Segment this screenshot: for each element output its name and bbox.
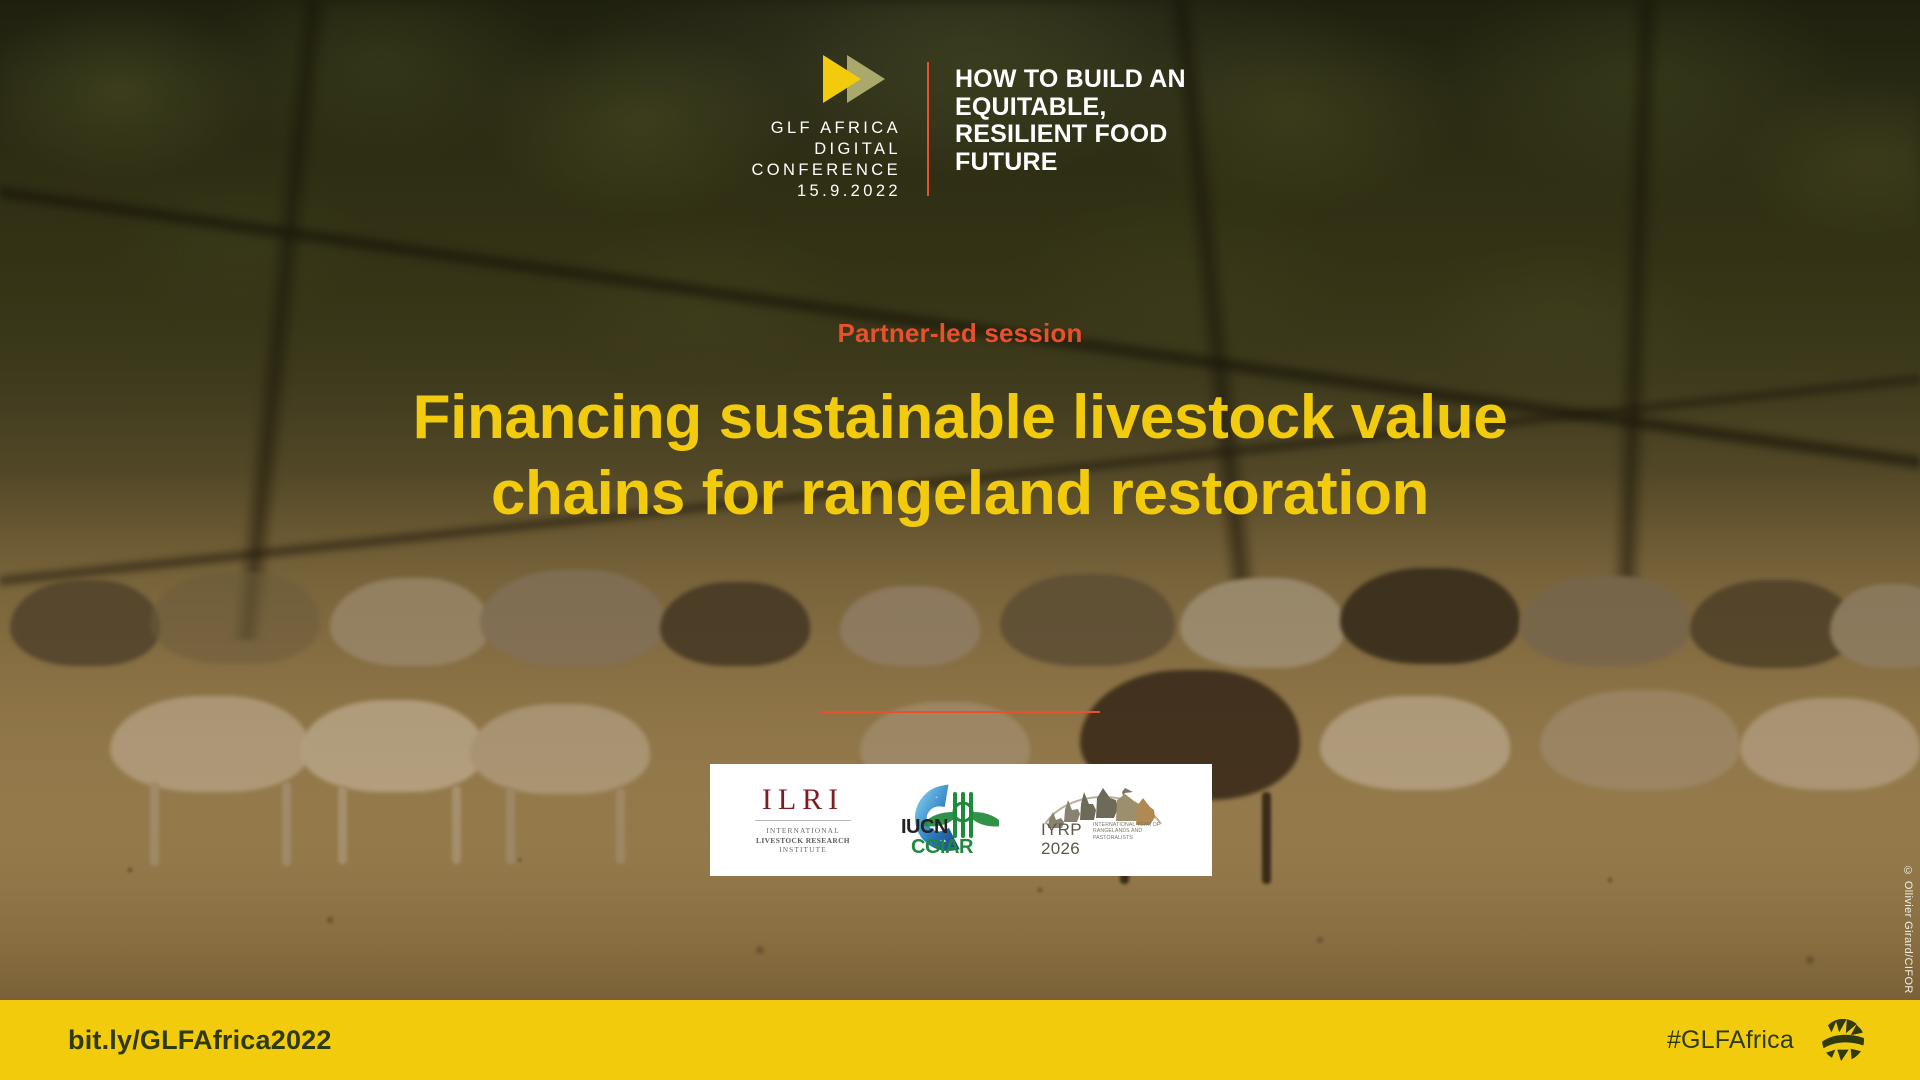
footer-bar: bit.ly/GLFAfrica2022 #GLFAfrica	[0, 1000, 1920, 1080]
ilri-subtitle-line-3: INSTITUTE	[756, 845, 850, 855]
glf-double-play-icon	[813, 52, 895, 106]
header-claim: HOW TO BUILD AN EQUITABLE, RESILIENT FOO…	[955, 52, 1215, 176]
glf-brand-block: GLF AFRICA DIGITAL CONFERENCE 15.9.2022	[705, 52, 901, 202]
ilri-wordmark: ILRI	[762, 785, 844, 815]
photo-credit: © Ollivier Girard/CIFOR	[1902, 865, 1914, 994]
iyrp-year: 2026	[1041, 839, 1080, 858]
glf-conference-lines: GLF AFRICA DIGITAL CONFERENCE 15.9.2022	[751, 118, 901, 202]
ilri-subtitle-line-2: LIVESTOCK RESEARCH	[756, 836, 850, 846]
cgiar-iucn-logo: IUCN CGIAR	[891, 782, 999, 858]
glf-globe-leaf-icon	[1820, 1017, 1866, 1063]
header-lockup: GLF AFRICA DIGITAL CONFERENCE 15.9.2022 …	[0, 52, 1920, 202]
ilri-logo: ILRI INTERNATIONAL LIVESTOCK RESEARCH IN…	[755, 785, 851, 855]
session-card: GLF AFRICA DIGITAL CONFERENCE 15.9.2022 …	[0, 0, 1920, 1080]
session-title: Financing sustainable livestock value ch…	[360, 380, 1560, 532]
partner-logo-panel: ILRI INTERNATIONAL LIVESTOCK RESEARCH IN…	[710, 764, 1212, 876]
session-kicker: Partner-led session	[0, 318, 1920, 349]
glf-line-4: 15.9.2022	[751, 181, 901, 202]
iyrp-acronym-year: IYRP 2026	[1041, 820, 1082, 858]
glf-line-3: CONFERENCE	[751, 160, 901, 181]
iyrp-acronym: IYRP	[1041, 820, 1082, 839]
ilri-rule	[755, 820, 851, 821]
glf-line-2: DIGITAL	[751, 139, 901, 160]
footer-hashtag: #GLFAfrica	[1667, 1026, 1794, 1055]
ilri-subtitle-line-1: INTERNATIONAL	[756, 826, 850, 836]
glf-line-1: GLF AFRICA	[751, 118, 901, 139]
iyrp-full-name: INTERNATIONAL YEAR OF RANGELANDS AND PAS…	[1093, 822, 1167, 841]
footer-right-group: #GLFAfrica	[1667, 1017, 1866, 1063]
iyrp-logo: IYRP 2026 INTERNATIONAL YEAR OF RANGELAN…	[1039, 780, 1167, 860]
ilri-subtitle: INTERNATIONAL LIVESTOCK RESEARCH INSTITU…	[756, 826, 850, 855]
footer-link[interactable]: bit.ly/GLFAfrica2022	[68, 1025, 332, 1056]
cgiar-wordmark: CGIAR	[911, 836, 973, 859]
title-divider	[820, 711, 1100, 713]
header-vertical-rule	[927, 62, 929, 196]
